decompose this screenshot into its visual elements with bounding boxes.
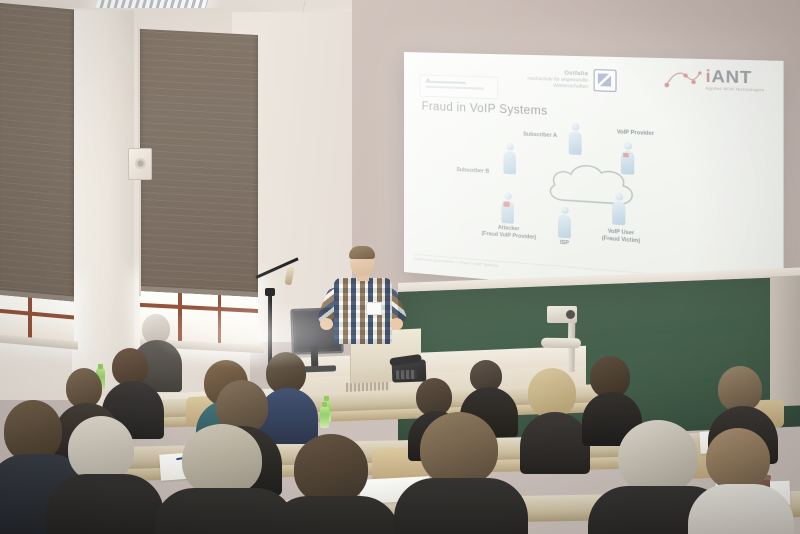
person-icon-subscriber-a <box>568 123 583 155</box>
slide-diagram: Subscriber A VoIP Provider Subscriber B … <box>414 114 772 275</box>
audience-member <box>56 416 152 534</box>
ostfalia-subtitle-1: Hochschule für angewandte <box>527 76 588 83</box>
audience-member <box>520 368 586 464</box>
person-icon-voip-user <box>611 193 626 226</box>
partner-logo-icon <box>420 74 499 99</box>
blind-cord[interactable] <box>138 28 140 152</box>
person-icon-subscriber-b <box>502 143 517 175</box>
projection-screen: Ostfalia Hochschule für angewandte Wisse… <box>404 52 784 305</box>
audience-member <box>404 412 514 534</box>
iant-wordmark: iANT <box>706 69 765 88</box>
ostfalia-subtitle-2: Wissenschaften <box>527 81 588 88</box>
iant-tagline: Applied NGN Technologies <box>706 88 765 94</box>
slide: Ostfalia Hochschule für angewandte Wisse… <box>404 52 784 305</box>
audience-member <box>694 428 784 534</box>
presenter-plaid-shirt <box>334 278 392 344</box>
iant-network-icon <box>662 67 703 92</box>
iant-logo: iANT Applied NGN Technologies <box>662 67 764 94</box>
presenter <box>320 248 406 356</box>
person-icon-isp <box>557 206 572 238</box>
label-isp: ISP <box>540 238 589 249</box>
wall-right-edge <box>770 275 800 406</box>
presenter-hand-right <box>390 318 403 330</box>
audience-member <box>278 434 386 534</box>
wall-speaker <box>128 148 152 180</box>
audience-member <box>166 424 282 534</box>
lecture-hall-photo: Ostfalia Hochschule für angewandte Wisse… <box>0 0 800 534</box>
label-voip-provider: VoIP Provider <box>604 129 666 139</box>
presenter-hand-left <box>320 318 333 330</box>
presenter-name-badge <box>366 302 382 315</box>
water-bottle <box>320 406 329 428</box>
presenter-hair <box>349 246 375 259</box>
slide-title: Fraud in VoIP Systems <box>422 101 772 127</box>
label-subscriber-b: Subscriber B <box>446 166 501 176</box>
overhead-projector-head <box>547 306 577 323</box>
overhead-projector-arm <box>541 338 581 349</box>
person-icon-voip-provider <box>620 142 636 175</box>
ostfalia-name: Ostfalia <box>527 70 588 78</box>
microphone-clamp <box>265 288 275 296</box>
wall-pillar <box>72 10 134 390</box>
ostfalia-logo: Ostfalia Hochschule für angewandte Wisse… <box>527 67 616 92</box>
label-attacker: Attacker(Fraud VoIP Provider) <box>462 222 557 242</box>
window-blind-left[interactable] <box>0 2 74 301</box>
ostfalia-mark-icon <box>594 69 617 92</box>
window-blind-right[interactable] <box>140 29 258 297</box>
label-voip-user: VoIP User(Fraud Victim) <box>578 226 664 246</box>
blind-cord[interactable] <box>139 176 141 296</box>
person-icon-attacker <box>500 192 515 224</box>
network-cloud-icon <box>540 155 647 214</box>
slide-logo-row: Ostfalia Hochschule für angewandte Wisse… <box>414 58 772 111</box>
label-subscriber-a: Subscriber A <box>513 131 568 140</box>
